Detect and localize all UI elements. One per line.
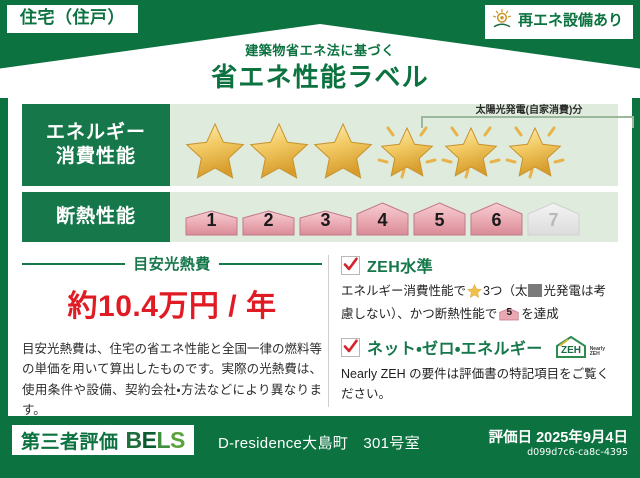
column-divider	[328, 255, 329, 407]
insulation-level-house: 1	[184, 202, 239, 236]
insulation-level-number: 2	[241, 210, 296, 231]
energy-performance-key: エネルギー 消費性能	[22, 104, 170, 186]
energy-saving-performance-label: 住宅（住戸） 再エネ設備あり 建築物省エネ法に基づく	[0, 0, 640, 478]
insulation-level-house: 4	[355, 198, 410, 236]
zeh-standard-item: ZEH水準 エネルギー消費性能で 3つ（太光発電は考慮しない）、かつ断熱性能で …	[341, 253, 618, 324]
utility-cost-heading-row: 目安光熱費	[22, 253, 322, 274]
zeh-body-end: を達成	[521, 307, 559, 321]
building-type-tag: 住宅（住戸）	[7, 5, 138, 33]
zeh-body-pre: エネルギー消費性能で	[341, 284, 466, 298]
label-title: 省エネ性能ラベル	[0, 57, 640, 94]
star-icon	[184, 119, 246, 179]
insulation-level-number: 5	[412, 210, 467, 231]
utility-cost-note: 目安光熱費は、住宅の省エネ性能と全国一律の燃料等の単価を用いて算出したものです。…	[22, 339, 322, 420]
insulation-performance-value: 1 2 3	[170, 192, 618, 242]
utility-cost-value: 約10.4万円 / 年	[22, 281, 322, 325]
bels-letter-s: S	[170, 427, 185, 454]
inline-house-number: 5	[499, 305, 519, 321]
label-body: エネルギー 消費性能 太陽光発電(自家消費)分	[8, 98, 632, 416]
property-name: D-residence大島町 301号室	[218, 432, 420, 453]
insulation-level-house: 3	[298, 202, 353, 236]
evaluation-id: d099d7c6-ca8c-4395	[527, 447, 628, 458]
star-solar-icon	[504, 119, 566, 179]
star-icon	[248, 119, 310, 179]
insulation-level-number: 6	[469, 210, 524, 231]
rule-right	[219, 263, 322, 265]
utility-cost-column: 目安光熱費 約10.4万円 / 年 目安光熱費は、住宅の省エネ性能と全国一律の燃…	[22, 251, 322, 411]
evaluation-date: 評価日 2025年9月4日	[489, 426, 628, 447]
insulation-level-number: 3	[298, 210, 353, 231]
zeh-standard-header: ZEH水準	[341, 253, 618, 277]
insulation-level-number: 4	[355, 210, 410, 231]
insulation-level-number: 1	[184, 210, 239, 231]
bels-badge: 第三者評価 BELS	[12, 425, 194, 455]
zeh-logo-sub-line2: ZEH	[590, 351, 600, 357]
star-icon	[312, 119, 374, 179]
utility-cost-heading: 目安光熱費	[133, 253, 211, 274]
checkmark-icon	[341, 256, 360, 275]
net-zero-energy-header: ネット・ゼロ・エネルギー ZEH Nearly ZEH	[341, 334, 618, 360]
insulation-level-number: 7	[526, 210, 581, 231]
star-rating	[170, 119, 566, 179]
renewable-tag-label: 再エネ設備あり	[518, 13, 623, 30]
footer-band: 第三者評価 BELS D-residence大島町 301号室 評価日 2025…	[0, 416, 640, 478]
bels-letter-b: B	[126, 427, 142, 454]
inline-house-level-icon: 5	[499, 305, 519, 322]
net-zero-energy-body: Nearly ZEH の要件は評価書の特記項目をご覧ください。	[341, 364, 618, 404]
zeh-logo-sub: Nearly ZEH	[590, 347, 605, 361]
insulation-level-house: 2	[241, 202, 296, 236]
renewable-energy-badge: 再エネ設備あり	[485, 5, 633, 39]
lower-section: 目安光熱費 約10.4万円 / 年 目安光熱費は、住宅の省エネ性能と全国一律の燃…	[22, 251, 618, 411]
star-solar-icon	[376, 119, 438, 179]
bels-letter-l: L	[156, 427, 170, 454]
zeh-column: ZEH水準 エネルギー消費性能で 3つ（太光発電は考慮しない）、かつ断熱性能で …	[341, 251, 618, 411]
sun-solar-icon	[491, 8, 513, 35]
zeh-standard-title: ZEH水準	[367, 253, 433, 277]
energy-key-line1: エネルギー	[46, 121, 146, 145]
insulation-performance-key: 断熱性能	[22, 192, 170, 242]
bels-wordmark: BELS	[126, 427, 185, 454]
insulation-level-house-inactive: 7	[526, 198, 581, 236]
energy-performance-row: エネルギー 消費性能 太陽光発電(自家消費)分	[22, 104, 618, 186]
energy-key-line2: 消費性能	[56, 145, 136, 169]
solar-bracket-label: 太陽光発電(自家消費)分	[415, 101, 640, 116]
inline-star-icon	[467, 283, 482, 304]
svg-text:ZEH: ZEH	[561, 345, 581, 356]
zeh-standard-body: エネルギー消費性能で 3つ（太光発電は考慮しない）、かつ断熱性能で 5 を達成	[341, 281, 618, 324]
energy-performance-value: 太陽光発電(自家消費)分	[170, 104, 618, 186]
insulation-performance-row: 断熱性能 1	[22, 192, 618, 242]
zeh-body-mid: 3つ（太	[483, 284, 527, 298]
bels-letter-e: E	[142, 427, 157, 454]
insulation-level-house: 6	[469, 198, 524, 236]
insulation-level-house: 5	[412, 198, 467, 236]
redacted-character	[528, 284, 542, 297]
star-solar-icon	[440, 119, 502, 179]
third-party-eval-label: 第三者評価	[21, 427, 119, 454]
net-zero-energy-title: ネット・ゼロ・エネルギー	[367, 335, 543, 359]
checkmark-icon	[341, 338, 360, 357]
rule-left	[22, 263, 125, 265]
insulation-level-scale: 1 2 3	[170, 198, 581, 236]
net-zero-energy-item: ネット・ゼロ・エネルギー ZEH Nearly ZEH	[341, 334, 618, 404]
zeh-logo-icon: ZEH Nearly ZEH	[554, 334, 605, 360]
